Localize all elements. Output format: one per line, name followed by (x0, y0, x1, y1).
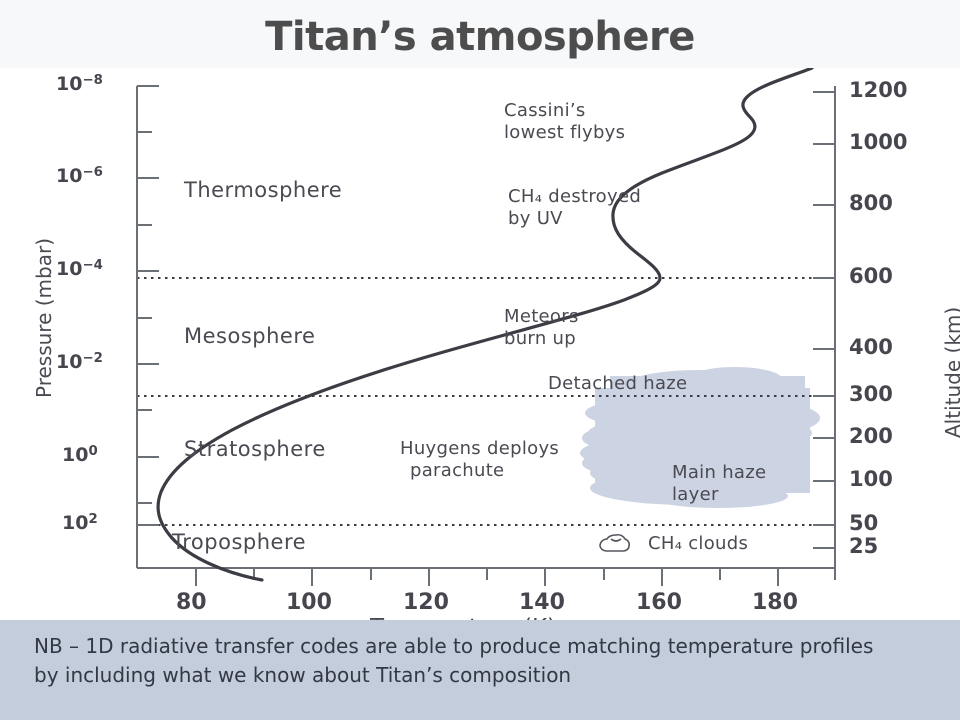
ytick2-label-100: 100 (849, 467, 893, 491)
axis-bottom-ticks (196, 568, 835, 586)
ytick2-label-600: 600 (849, 264, 893, 288)
ytick-label-1e-8: 10−8 (56, 73, 103, 95)
axis-left-ticks (137, 86, 159, 525)
xtick-label-120: 120 (403, 590, 449, 615)
ytick-label-1e0: 100 (62, 444, 98, 466)
region-label-troposphere: Troposphere (172, 530, 306, 556)
callout-ch4-uv-line1: CH₄ destroyed (508, 186, 641, 208)
ytick2-label-300: 300 (849, 382, 893, 406)
xtick-label-180: 180 (752, 590, 798, 615)
region-label-thermosphere: Thermosphere (184, 178, 342, 204)
callout-ch4-clouds: CH₄ clouds (648, 533, 748, 555)
axis-title-altitude: Altitude (km) (941, 307, 960, 438)
page-title: Titan’s atmosphere (0, 14, 960, 60)
cloud-icon (600, 535, 629, 551)
callout-detached-haze: Detached haze (548, 373, 687, 395)
callout-huygens-line2: parachute (410, 460, 504, 482)
xtick-label-100: 100 (286, 590, 332, 615)
region-label-mesosphere: Mesosphere (184, 324, 315, 350)
callout-cassini-line1: Cassini’s (504, 100, 586, 122)
ytick2-label-1000: 1000 (849, 130, 907, 154)
ytick-label-1e2: 102 (62, 512, 98, 534)
ytick2-label-800: 800 (849, 191, 893, 215)
axis-right-ticks (813, 92, 835, 548)
xtick-label-160: 160 (636, 590, 682, 615)
callout-meteors-line1: Meteors (504, 306, 579, 328)
atmosphere-profile-chart: 10−8 10−6 10−4 10−2 100 102 Pressure (mb… (0, 68, 960, 620)
ytick2-label-400: 400 (849, 335, 893, 359)
chart-canvas (0, 68, 960, 620)
ytick-label-1e-6: 10−6 (56, 165, 103, 187)
callout-huygens-line1: Huygens deploys (400, 438, 559, 460)
xtick-label-80: 80 (176, 590, 207, 615)
ytick2-label-1200: 1200 (849, 78, 907, 102)
region-label-stratosphere: Stratosphere (184, 437, 326, 463)
xtick-label-140: 140 (519, 590, 565, 615)
callout-main-haze-line2: layer (672, 484, 719, 506)
callout-main-haze-line1: Main haze (672, 462, 766, 484)
axis-title-pressure: Pressure (mbar) (32, 238, 56, 398)
ytick2-label-25: 25 (849, 534, 878, 558)
ytick2-label-200: 200 (849, 424, 893, 448)
callout-ch4-uv-line2: by UV (508, 208, 563, 230)
ytick-label-1e-2: 10−2 (56, 351, 103, 373)
caption-band: NB – 1D radiative transfer codes are abl… (0, 620, 960, 720)
caption-text: NB – 1D radiative transfer codes are abl… (34, 632, 939, 690)
ytick-label-1e-4: 10−4 (56, 258, 103, 280)
callout-cassini-line2: lowest flybys (504, 122, 625, 144)
callout-meteors-line2: burn up (504, 328, 576, 350)
ytick2-label-50: 50 (849, 511, 878, 535)
